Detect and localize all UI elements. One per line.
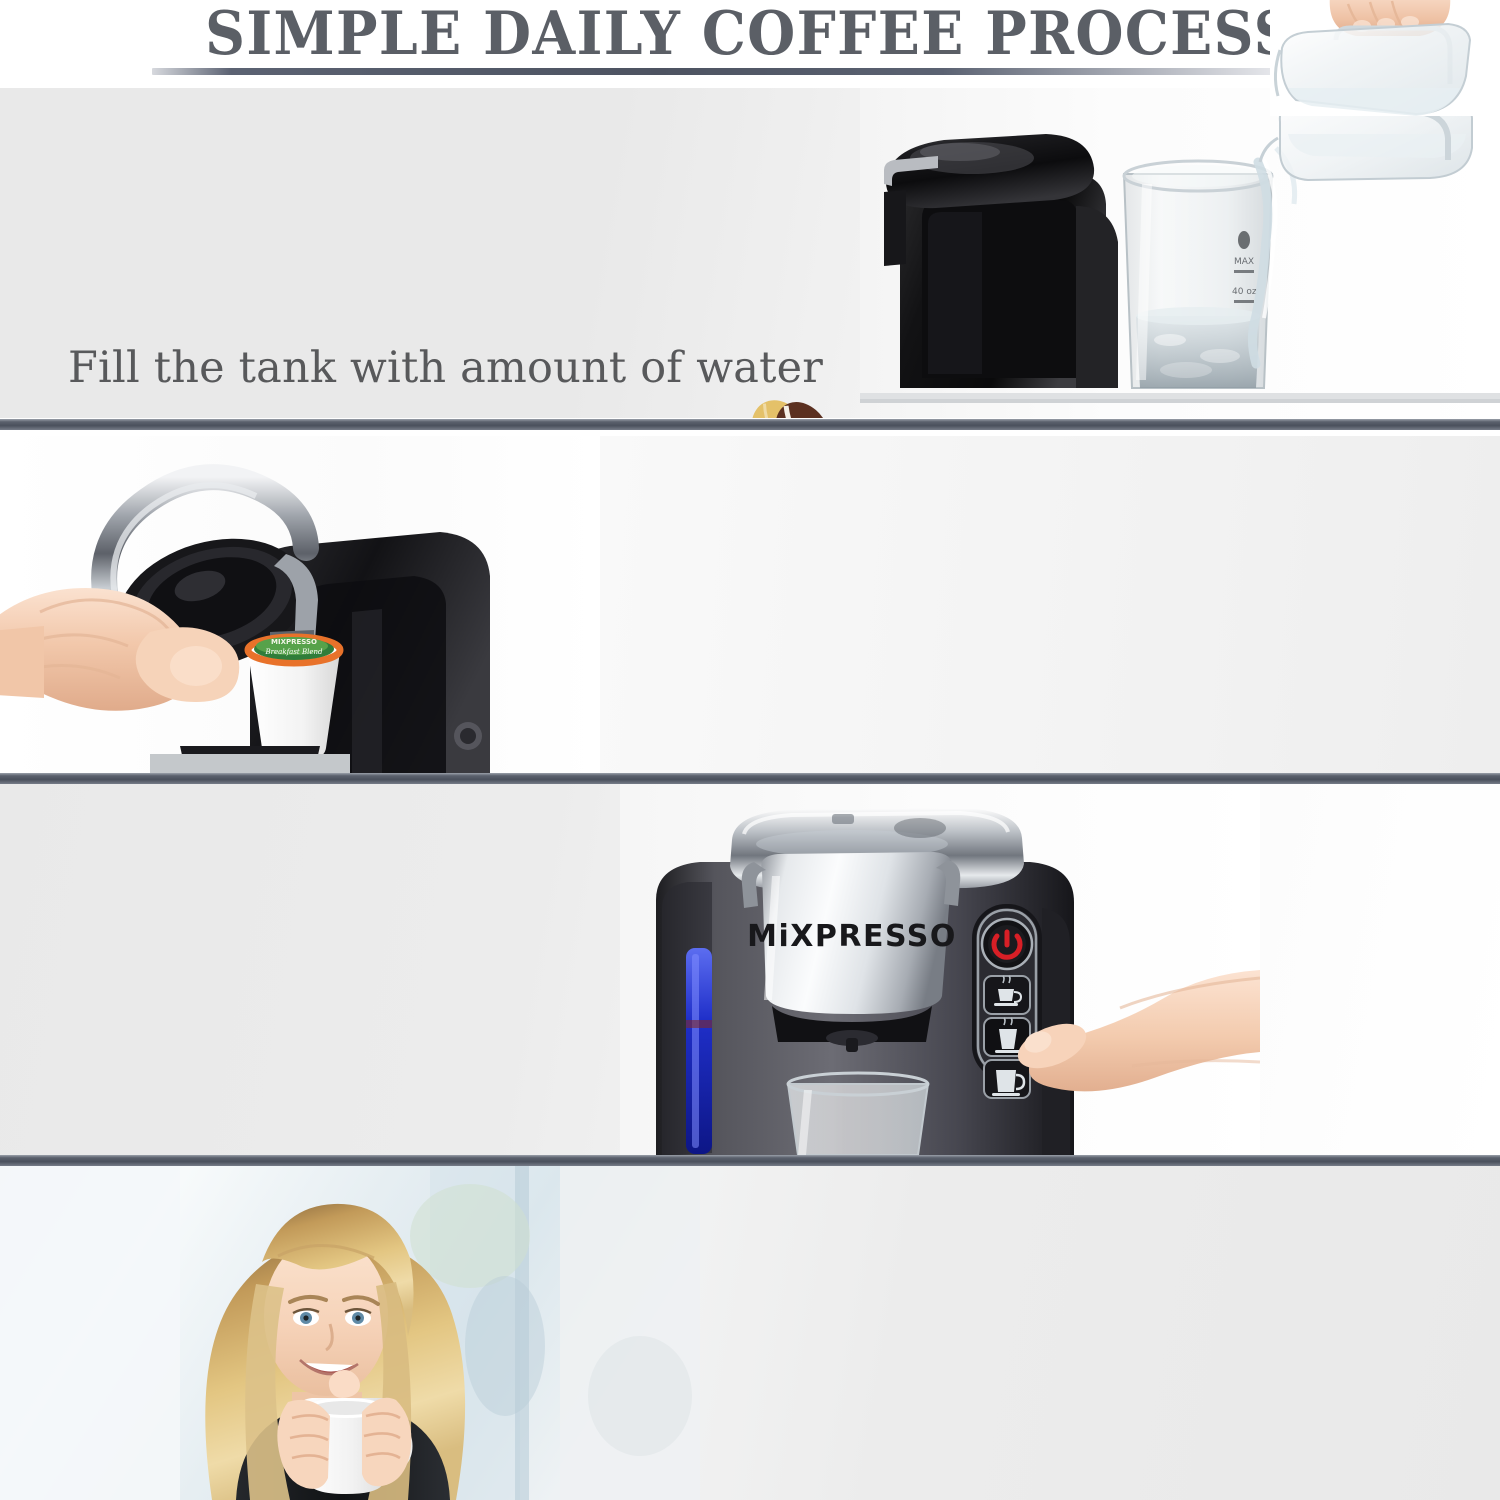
step-1-caption: Fill the tank with amount of water — [68, 340, 823, 396]
panel-divider-2 — [0, 773, 1500, 784]
machine-brand-label: MiXPRESSO — [747, 919, 957, 954]
panel-divider-1 — [0, 419, 1500, 430]
mixpresso-controls-photo: MiXPRESSO — [620, 784, 1260, 1155]
step-2-panel: MIXPRESSO Breakfast Blend Add our or any… — [0, 436, 1500, 773]
panel-divider-3 — [0, 1155, 1500, 1166]
step-4-panel: Enjoy your daily morning coffee... — [0, 1166, 1500, 1500]
pitcher-hand-overlay-image — [1270, 0, 1500, 116]
page-title: SIMPLE DAILY COFFEE PROCESS — [60, 4, 1440, 64]
svg-text:MIXPRESSO: MIXPRESSO — [271, 638, 317, 646]
insert-pod-photo: MIXPRESSO Breakfast Blend — [0, 436, 600, 773]
step-1-line-1: Fill the tank with amount of water — [68, 340, 823, 396]
svg-text:40 oz: 40 oz — [1232, 287, 1257, 297]
svg-text:MAX: MAX — [1234, 257, 1254, 267]
title-underline — [152, 68, 1282, 75]
step-1-panel: MAX 40 oz Fill the tank with amount of w… — [0, 88, 1500, 418]
woman-with-mug-photo — [0, 1166, 700, 1500]
coffee-bean-icon — [745, 391, 839, 418]
svg-text:Breakfast Blend: Breakfast Blend — [265, 648, 323, 656]
brewer-water-fill-photo: MAX 40 oz — [860, 88, 1500, 418]
step-3-panel: MiXPRESSO — [0, 784, 1500, 1155]
